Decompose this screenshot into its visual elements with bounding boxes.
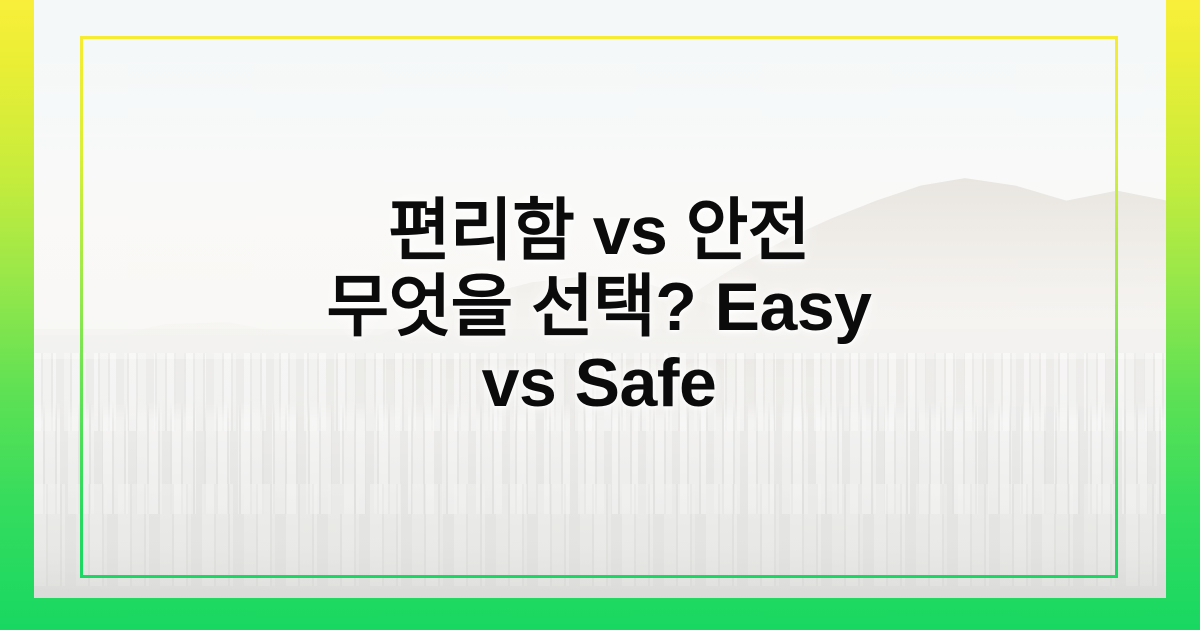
page-title: 편리함 vs 안전 무엇을 선택? Easy vs Safe bbox=[327, 193, 872, 421]
thumbnail-card: 편리함 vs 안전 무엇을 선택? Easy vs Safe bbox=[0, 0, 1200, 630]
title-block: 편리함 vs 안전 무엇을 선택? Easy vs Safe bbox=[80, 36, 1118, 578]
